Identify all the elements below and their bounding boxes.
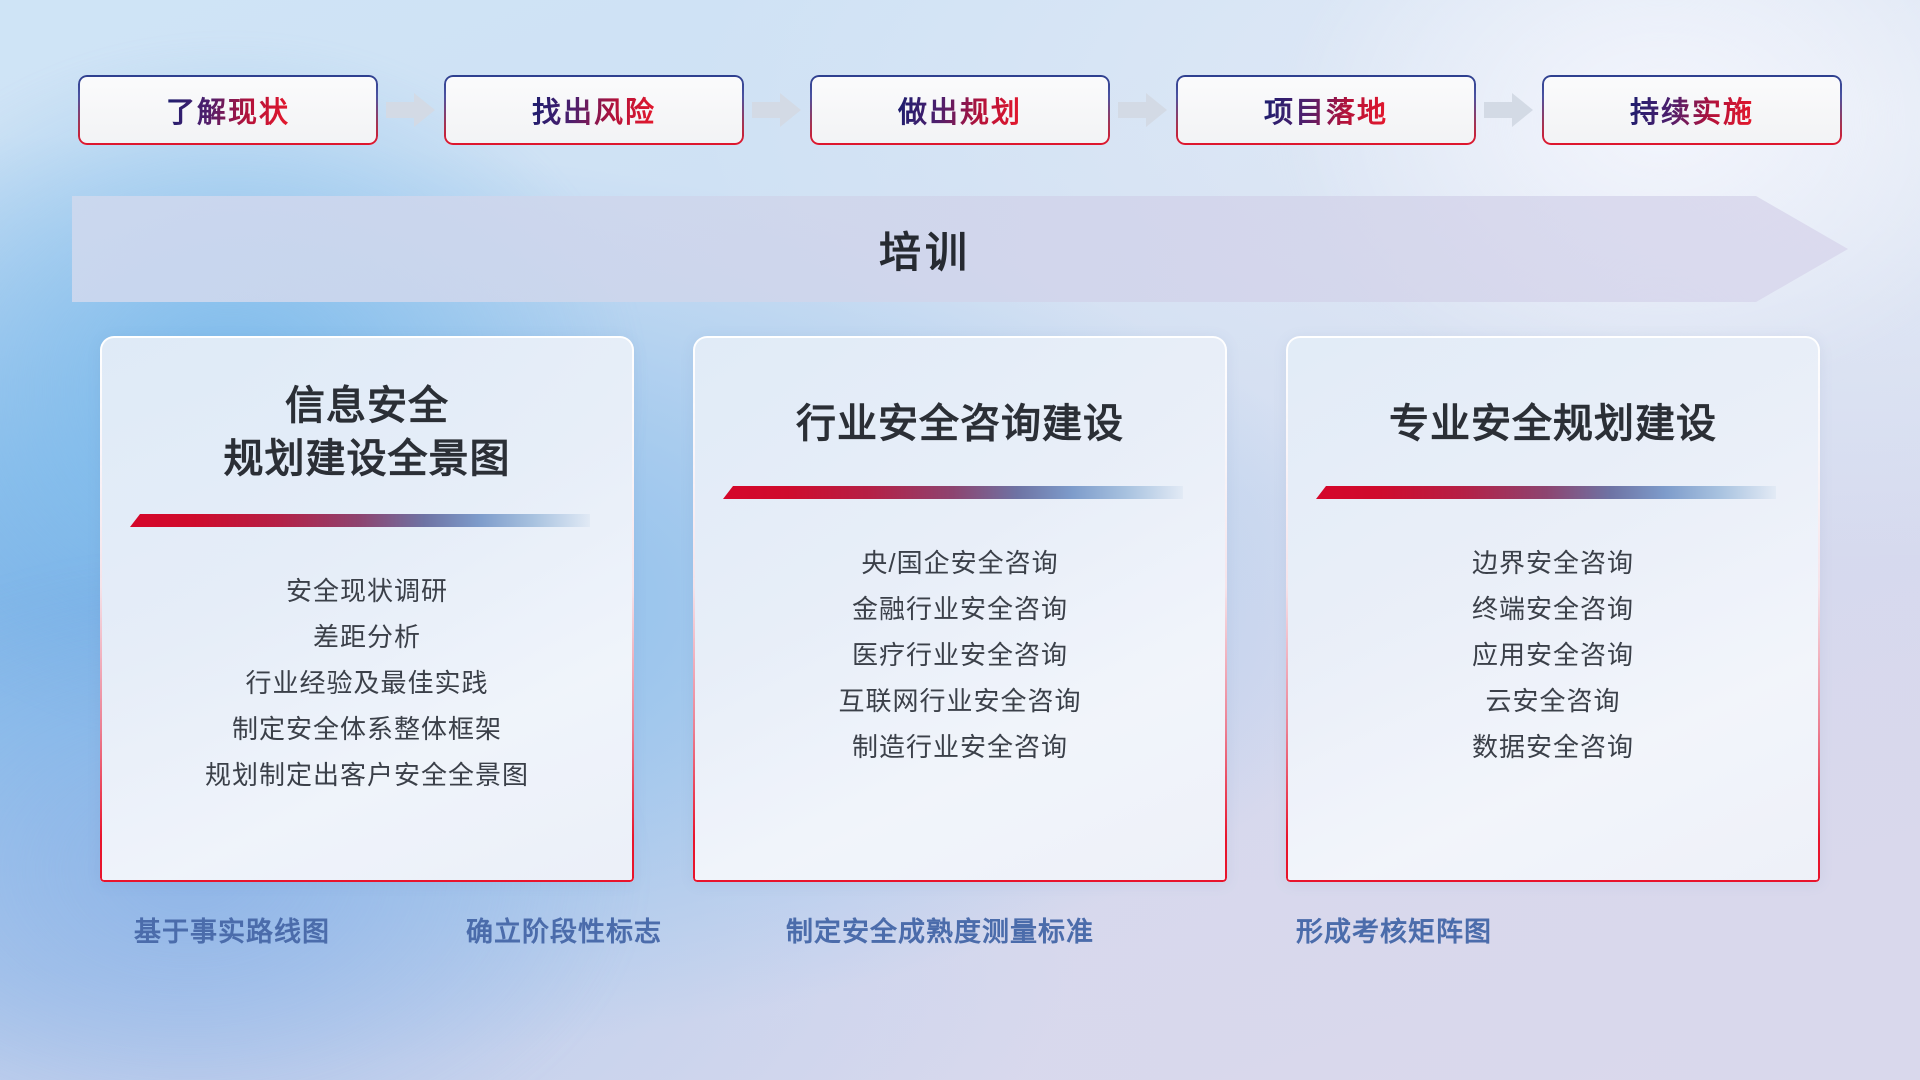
card-title: 信息安全 规划建设全景图 [100, 380, 634, 486]
list-item: 规划制定出客户安全全景图 [126, 752, 608, 798]
list-item: 行业经验及最佳实践 [126, 660, 608, 706]
step-box-3[interactable]: 做出规划 [810, 75, 1110, 145]
caption-milestones: 确立阶段性标志 [466, 910, 662, 949]
arrow-right-icon [378, 75, 444, 145]
list-item: 差距分析 [126, 614, 608, 660]
step-label-2: 找出风险 [532, 89, 656, 131]
list-item: 云安全咨询 [1312, 678, 1794, 724]
card-title: 行业安全咨询建设 [693, 398, 1227, 451]
list-item: 数据安全咨询 [1312, 724, 1794, 770]
training-banner: 培训 [72, 196, 1848, 302]
caption-assessment-matrix: 形成考核矩阵图 [1296, 910, 1492, 949]
banner-title: 培训 [72, 196, 1848, 302]
list-item: 互联网行业安全咨询 [719, 678, 1201, 724]
card-title: 专业安全规划建设 [1286, 398, 1820, 451]
list-item: 央/国企安全咨询 [719, 540, 1201, 586]
list-item: 终端安全咨询 [1312, 586, 1794, 632]
caption-roadmap: 基于事实路线图 [134, 910, 330, 949]
card-accent-bar [1316, 486, 1776, 499]
card-professional-security-planning[interactable]: 专业安全规划建设 边界安全咨询 终端安全咨询 应用安全咨询 云安全咨询 数据安全… [1286, 336, 1820, 882]
list-item: 制造行业安全咨询 [719, 724, 1201, 770]
step-label-4: 项目落地 [1264, 89, 1388, 131]
card-accent-bar [723, 486, 1183, 499]
list-item: 金融行业安全咨询 [719, 586, 1201, 632]
list-item: 医疗行业安全咨询 [719, 632, 1201, 678]
card-industry-security-consulting[interactable]: 行业安全咨询建设 央/国企安全咨询 金融行业安全咨询 医疗行业安全咨询 互联网行… [693, 336, 1227, 882]
card-list: 安全现状调研 差距分析 行业经验及最佳实践 制定安全体系整体框架 规划制定出客户… [100, 568, 634, 798]
arrow-right-icon [1476, 75, 1542, 145]
caption-row: 基于事实路线图 确立阶段性标志 制定安全成熟度测量标准 形成考核矩阵图 [0, 910, 1920, 960]
card-information-security-blueprint[interactable]: 信息安全 规划建设全景图 安全现状调研 差距分析 行业经验及最佳实践 制定安全体… [100, 336, 634, 882]
card-title-line-1: 行业安全咨询建设 [719, 398, 1201, 451]
step-box-4[interactable]: 项目落地 [1176, 75, 1476, 145]
card-list: 边界安全咨询 终端安全咨询 应用安全咨询 云安全咨询 数据安全咨询 [1286, 540, 1820, 770]
step-label-1: 了解现状 [166, 89, 290, 131]
arrow-right-icon [1110, 75, 1176, 145]
card-accent-bar [130, 514, 590, 527]
step-label-3: 做出规划 [898, 89, 1022, 131]
step-box-1[interactable]: 了解现状 [78, 75, 378, 145]
list-item: 边界安全咨询 [1312, 540, 1794, 586]
caption-maturity-standard: 制定安全成熟度测量标准 [786, 910, 1094, 949]
step-label-5: 持续实施 [1630, 89, 1754, 131]
list-item: 制定安全体系整体框架 [126, 706, 608, 752]
list-item: 安全现状调研 [126, 568, 608, 614]
card-list: 央/国企安全咨询 金融行业安全咨询 医疗行业安全咨询 互联网行业安全咨询 制造行… [693, 540, 1227, 770]
list-item: 应用安全咨询 [1312, 632, 1794, 678]
card-title-line-1: 专业安全规划建设 [1312, 398, 1794, 451]
card-title-line-2: 规划建设全景图 [126, 433, 608, 486]
card-row: 信息安全 规划建设全景图 安全现状调研 差距分析 行业经验及最佳实践 制定安全体… [100, 336, 1820, 882]
process-step-row: 了解现状 找出风险 做出规划 项目落地 持续实施 [0, 72, 1920, 148]
step-box-2[interactable]: 找出风险 [444, 75, 744, 145]
step-box-5[interactable]: 持续实施 [1542, 75, 1842, 145]
arrow-right-icon [744, 75, 810, 145]
card-title-line-1: 信息安全 [126, 380, 608, 433]
